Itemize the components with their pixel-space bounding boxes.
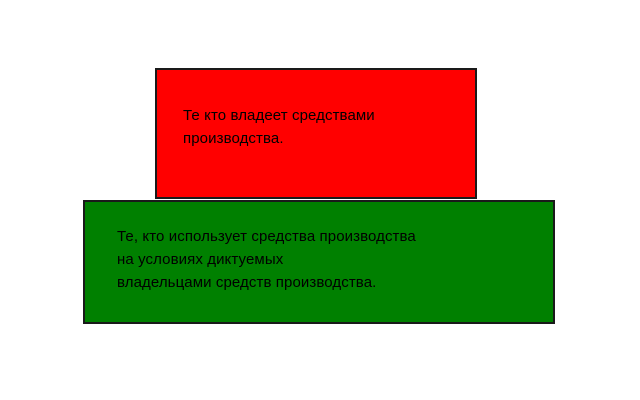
users-block[interactable]: Те, кто использует средства производства… (83, 200, 555, 324)
owners-block[interactable]: Те кто владеет средствами производства. (155, 68, 477, 199)
users-block-label: Те, кто использует средства производства… (117, 225, 416, 294)
diagram-canvas: Те кто владеет средствами производства. … (0, 0, 640, 400)
owners-block-label: Те кто владеет средствами производства. (183, 104, 375, 150)
